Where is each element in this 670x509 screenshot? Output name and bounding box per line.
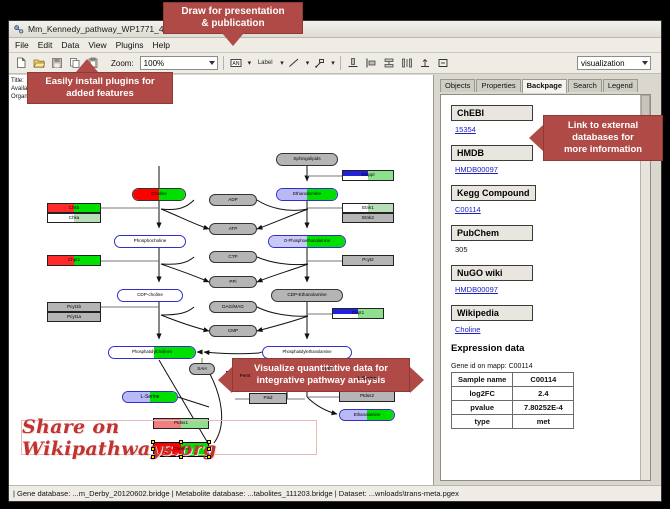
visualization-value: visualization: [581, 59, 625, 68]
node-label: CMP: [228, 329, 238, 334]
node-label: Ptdss1: [174, 421, 188, 426]
exp-key-sample-name: Sample name: [452, 373, 513, 387]
db-link-hmdb[interactable]: HMDB00097: [455, 165, 640, 174]
node-ethanolamine[interactable]: Ethanolamine: [276, 188, 338, 201]
node-ctp[interactable]: CTP: [209, 251, 257, 263]
new-file-icon[interactable]: [13, 56, 28, 71]
common-height-icon[interactable]: [436, 56, 451, 71]
menu-edit[interactable]: Edit: [38, 40, 53, 50]
screenshot-root: Mm_Kennedy_pathway_WP1771_45176.gpml Fil…: [0, 0, 670, 509]
menu-help[interactable]: Help: [153, 40, 170, 50]
node-label: O-Phosphoethanolamine: [284, 239, 330, 243]
node-label: SAM: [323, 367, 333, 372]
svg-text:AN: AN: [233, 61, 240, 67]
menu-data[interactable]: Data: [61, 40, 79, 50]
node-etnppl[interactable]: Etnppl: [342, 170, 394, 181]
db-header-nugo: NuGO wiki: [451, 265, 533, 281]
node-etnk2[interactable]: Etnk2: [342, 213, 394, 223]
db-link-wikipedia[interactable]: Choline: [455, 325, 640, 334]
node-label: Pemt: [240, 374, 251, 379]
exp-val-pvalue: 7.80252E-4: [513, 401, 574, 415]
node-label: Etnk1: [362, 206, 374, 211]
node-phosphatidylcholines[interactable]: Phosphatidylcholines: [108, 346, 196, 359]
node-label: Pcyt1a: [67, 315, 81, 320]
tab-legend[interactable]: Legend: [603, 79, 638, 92]
node-label: DAG/MAG: [222, 305, 244, 310]
node-label: Pcyt2: [362, 258, 374, 263]
resize-handle-s[interactable]: [179, 455, 183, 459]
callout-plugins: Easily install plugins for added feature…: [27, 72, 173, 104]
resize-handle-sw[interactable]: [151, 455, 155, 459]
node-label: Pisd: [264, 396, 273, 401]
node-cept1[interactable]: Cept1: [332, 308, 384, 319]
open-folder-icon[interactable]: [31, 56, 46, 71]
expression-table: Sample name C00114 log2FC 2.4 pvalue 7.8…: [451, 372, 574, 429]
label-icon[interactable]: Label: [254, 56, 276, 71]
callout-links: Link to external databases for more info…: [543, 115, 663, 161]
node-label: Phosphatidylcholines: [132, 350, 172, 354]
menu-plugins[interactable]: Plugins: [116, 40, 144, 50]
db-link-nugo[interactable]: HMDB00097: [455, 285, 640, 294]
line-dropdown-arrow[interactable]: ▾: [306, 59, 310, 67]
resize-handle-se[interactable]: [207, 455, 211, 459]
node-label: CTP: [228, 255, 237, 260]
node-chpt1[interactable]: Chpt1: [47, 255, 101, 266]
node-ethanolamine-right[interactable]: Ethanolamine: [339, 409, 395, 421]
node-pcyt1b[interactable]: Pcyt1b: [47, 302, 101, 312]
zoom-value: 100%: [144, 59, 164, 68]
callout-visualize-arrow-left: [218, 367, 232, 393]
node-label: Sphingolipids: [293, 157, 320, 162]
exp-val-log2fc: 2.4: [513, 387, 574, 401]
save-icon[interactable]: [49, 56, 64, 71]
node-label: Ptdss2: [360, 394, 374, 399]
node-label: Ethanolamine: [293, 192, 321, 197]
node-chka[interactable]: Chka: [47, 213, 101, 223]
chevron-down-icon: [209, 61, 215, 65]
node-choline[interactable]: Choline: [132, 188, 186, 201]
zoom-select[interactable]: 100%: [140, 56, 218, 70]
status-bar: | Gene database: ...m_Derby_20120602.bri…: [9, 485, 661, 501]
node-l-serine-left[interactable]: L-Serine: [122, 391, 178, 403]
node-chkb[interactable]: Chkb: [47, 203, 101, 213]
node-pcyt2[interactable]: Pcyt2: [342, 255, 394, 266]
node-o-phosphoethanolamine[interactable]: O-Phosphoethanolamine: [268, 235, 346, 248]
table-row: log2FC 2.4: [452, 387, 574, 401]
node-ptdss2[interactable]: Ptdss2: [339, 391, 395, 402]
common-width-icon[interactable]: [418, 56, 433, 71]
node-atp[interactable]: ATP: [209, 223, 257, 235]
toolbar-separator: [223, 56, 224, 70]
tab-backpage[interactable]: Backpage: [522, 79, 567, 93]
pathvisio-app-icon: [13, 24, 24, 35]
callout-plugins-arrow: [76, 59, 98, 72]
db-header-chebi: ChEBI: [451, 105, 533, 121]
menu-view[interactable]: View: [88, 40, 106, 50]
toolbar-separator-2: [340, 56, 341, 70]
node-label: Choline: [151, 192, 167, 197]
exp-key-pvalue: pvalue: [452, 401, 513, 415]
db-header-hmdb: HMDB: [451, 145, 533, 161]
tab-search[interactable]: Search: [568, 79, 602, 92]
distribute-icon[interactable]: [400, 56, 415, 71]
db-value-pubchem: 305: [455, 245, 640, 254]
node-label: PPi: [229, 280, 236, 285]
callout-draw-arrow: [222, 33, 244, 46]
resize-handle-w[interactable]: [151, 447, 155, 451]
resize-handle-ne[interactable]: [207, 440, 211, 444]
resize-handle-e[interactable]: [207, 447, 211, 451]
tab-objects[interactable]: Objects: [440, 79, 475, 92]
callout-visualize: Visualize quantitative data for integrat…: [232, 358, 410, 392]
receptor-icon[interactable]: [312, 56, 327, 71]
node-label: Chkb: [69, 206, 80, 211]
exp-val-type: met: [513, 415, 574, 429]
label-dropdown-arrow[interactable]: ▾: [280, 59, 284, 67]
node-label: Phosphocholine: [134, 239, 167, 244]
label-icon-text: Label: [258, 60, 273, 66]
menu-file[interactable]: File: [15, 40, 29, 50]
expression-data-heading: Expression data: [451, 343, 640, 354]
callout-share-text: Share on Wikipathways.org: [22, 416, 316, 460]
datanode-icon[interactable]: AN: [229, 56, 244, 71]
table-row: pvalue 7.80252E-4: [452, 401, 574, 415]
node-sah[interactable]: SAH: [189, 363, 215, 375]
node-label: Choline: [173, 447, 189, 452]
receptor-dropdown-arrow[interactable]: ▾: [331, 59, 335, 67]
node-label: SAH: [197, 367, 206, 372]
node-cmp[interactable]: CMP: [209, 325, 257, 337]
db-header-wikipedia: Wikipedia: [451, 305, 533, 321]
node-label: Chpt1: [68, 258, 80, 263]
node-label: Etnk2: [362, 216, 374, 221]
status-text: | Gene database: ...m_Derby_20120602.bri…: [13, 489, 459, 498]
callout-links-arrow: [529, 125, 543, 151]
gene-id-line: Gene id on mapp: C00114: [451, 363, 640, 370]
tab-properties[interactable]: Properties: [476, 79, 520, 92]
exp-key-log2fc: log2FC: [452, 387, 513, 401]
node-label: Ethanolamine: [354, 413, 381, 417]
align-left-icon[interactable]: [364, 56, 379, 71]
title-bar: Mm_Kennedy_pathway_WP1771_45176.gpml: [9, 21, 661, 38]
table-row: Sample name C00114: [452, 373, 574, 387]
chevron-down-icon-2: [642, 61, 648, 65]
resize-handle-n[interactable]: [179, 440, 183, 444]
callout-share: Share on Wikipathways.org: [21, 420, 317, 455]
node-label: Chka: [69, 216, 80, 221]
callout-visualize-arrow-right: [410, 367, 424, 393]
node-label: CDP-choline: [137, 293, 163, 298]
node-label: Etnppl: [361, 173, 374, 178]
node-ppi[interactable]: PPi: [209, 276, 257, 288]
visualization-select[interactable]: visualization: [577, 56, 651, 70]
node-etnk1[interactable]: Etnk1: [342, 203, 394, 213]
node-phosphocholine[interactable]: Phosphocholine: [114, 235, 186, 248]
node-label: Phosphatidylethanolamine: [282, 350, 331, 354]
node-sphingolipids[interactable]: Sphingolipids: [276, 153, 338, 166]
node-pcyt1a[interactable]: Pcyt1a: [47, 312, 101, 322]
tool-bar: Zoom: 100% AN ▾ Label ▾ ▾ ▾: [9, 53, 661, 74]
db-link-kegg[interactable]: C00114: [455, 205, 640, 214]
node-label: L-Serine: [358, 377, 377, 382]
exp-key-type: type: [452, 415, 513, 429]
node-cdp-choline[interactable]: CDP-choline: [117, 289, 183, 302]
node-label: Cept1: [352, 311, 364, 316]
datanode-dropdown-arrow[interactable]: ▾: [248, 59, 252, 67]
exp-val-sample-name: C00114: [513, 373, 574, 387]
node-pisd[interactable]: Pisd: [249, 393, 287, 404]
node-dag-mag[interactable]: DAG/MAG: [209, 301, 257, 313]
node-label: Pcyt1b: [67, 305, 81, 310]
db-header-pubchem: PubChem: [451, 225, 533, 241]
node-cdp-ethanolamine[interactable]: CDP-Ethanolamine: [271, 289, 343, 302]
callout-draw: Draw for presentation & publication: [163, 2, 303, 34]
node-label: L-Serine: [141, 395, 160, 400]
align-bottom-icon[interactable]: [346, 56, 361, 71]
line-icon[interactable]: [287, 56, 302, 71]
stack-vertical-icon[interactable]: [382, 56, 397, 71]
resize-handle-nw[interactable]: [151, 440, 155, 444]
node-label: CDP-Ethanolamine: [287, 293, 326, 298]
table-row: type met: [452, 415, 574, 429]
node-adp[interactable]: ADP: [209, 194, 257, 206]
node-label: ATP: [229, 227, 238, 232]
menu-bar: File Edit Data View Plugins Help: [9, 38, 661, 53]
side-panel-tabs: Objects Properties Backpage Search Legen…: [434, 78, 661, 92]
zoom-label: Zoom:: [111, 59, 134, 68]
db-header-kegg: Kegg Compound: [451, 185, 536, 201]
node-label: ADP: [228, 198, 237, 203]
